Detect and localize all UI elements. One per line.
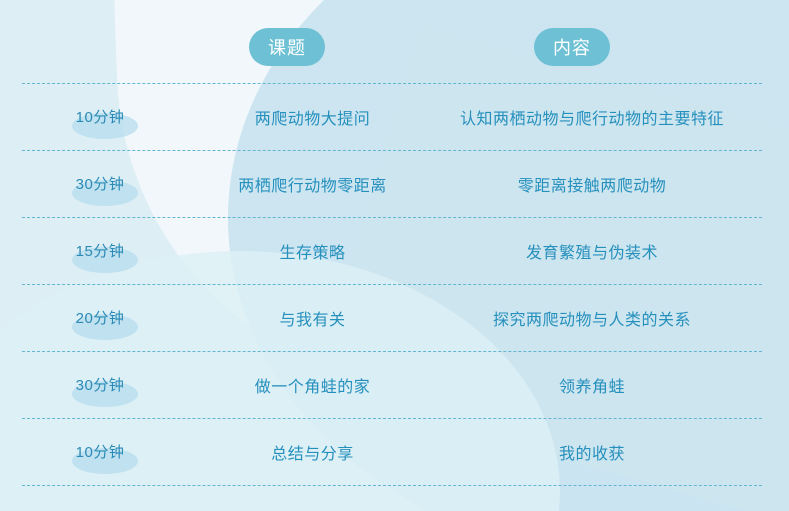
cell-topic: 总结与分享 (200, 440, 425, 464)
cell-topic: 与我有关 (200, 306, 425, 330)
duration-label: 30分钟 (76, 377, 125, 394)
table-row: 30分钟 做一个角蛙的家 领养角蛙 (0, 351, 789, 418)
row-divider (22, 284, 762, 285)
duration-label: 10分钟 (76, 109, 125, 126)
table-row: 30分钟 两栖爬行动物零距离 零距离接触两爬动物 (0, 150, 789, 217)
table-row: 10分钟 总结与分享 我的收获 (0, 418, 789, 485)
duration-label: 15分钟 (76, 243, 125, 260)
cell-duration: 10分钟 (0, 106, 200, 127)
cell-content: 领养角蛙 (425, 373, 789, 397)
cell-duration: 30分钟 (0, 173, 200, 194)
column-header-topic: 课题 (249, 28, 325, 66)
table-row: 15分钟 生存策略 发育繁殖与伪装术 (0, 217, 789, 284)
table-row: 20分钟 与我有关 探究两爬动物与人类的关系 (0, 284, 789, 351)
cell-content: 零距离接触两爬动物 (425, 172, 789, 196)
cell-content: 探究两爬动物与人类的关系 (425, 306, 789, 330)
table-body: 10分钟 两爬动物大提问 认知两栖动物与爬行动物的主要特征 30分钟 两栖爬行动… (0, 83, 789, 485)
row-divider (22, 485, 762, 486)
duration-label: 30分钟 (76, 176, 125, 193)
cell-content: 我的收获 (425, 440, 789, 464)
cell-topic: 做一个角蛙的家 (200, 373, 425, 397)
cell-duration: 20分钟 (0, 307, 200, 328)
cell-topic: 两栖爬行动物零距离 (200, 172, 425, 196)
schedule-board: 课题 内容 10分钟 两爬动物大提问 认知两栖动物与爬行动物的主要特征 30分钟 (0, 0, 789, 511)
cell-content: 发育繁殖与伪装术 (425, 239, 789, 263)
row-divider (22, 150, 762, 151)
cell-duration: 10分钟 (0, 441, 200, 462)
row-divider (22, 83, 762, 84)
cell-duration: 30分钟 (0, 374, 200, 395)
cell-topic: 两爬动物大提问 (200, 105, 425, 129)
duration-label: 10分钟 (76, 444, 125, 461)
cell-topic: 生存策略 (200, 239, 425, 263)
table-row: 10分钟 两爬动物大提问 认知两栖动物与爬行动物的主要特征 (0, 83, 789, 150)
duration-label: 20分钟 (76, 310, 125, 327)
row-divider (22, 351, 762, 352)
row-divider (22, 418, 762, 419)
row-divider (22, 217, 762, 218)
cell-duration: 15分钟 (0, 240, 200, 261)
cell-content: 认知两栖动物与爬行动物的主要特征 (425, 105, 789, 129)
column-header-content: 内容 (534, 28, 610, 66)
table-header: 课题 内容 (0, 0, 789, 88)
schedule-content: 课题 内容 10分钟 两爬动物大提问 认知两栖动物与爬行动物的主要特征 30分钟 (0, 0, 789, 511)
